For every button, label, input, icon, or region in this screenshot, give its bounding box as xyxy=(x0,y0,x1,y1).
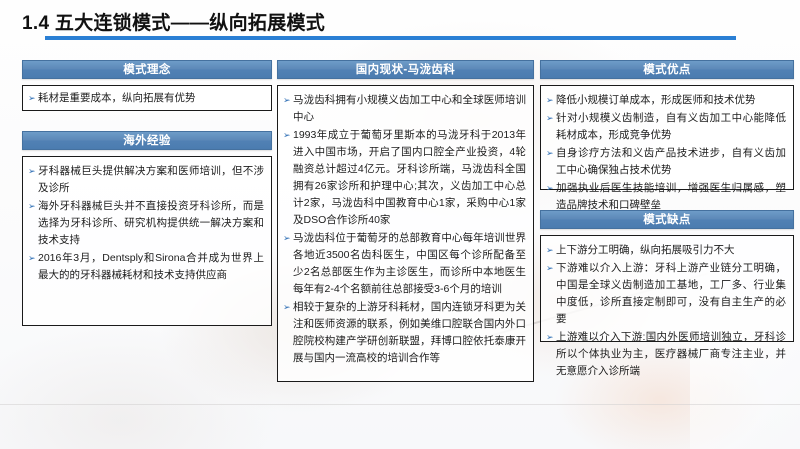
slide: 1.4 五大连锁模式——纵向拓展模式 模式理念 ➢ 耗材是重要成本，纵向拓展有优… xyxy=(0,0,800,449)
bullet-arrow-icon: ➢ xyxy=(546,329,556,346)
list-item-text: 2016年3月，Dentsply和Sirona合并成为世界上最大的的牙科器械耗材… xyxy=(38,250,264,284)
panel-header-concept: 模式理念 xyxy=(22,60,272,79)
list-item: ➢ 上游难以介入下游:国内外医师培训独立，牙科诊所以个体执业为主，医疗器械厂商专… xyxy=(546,329,786,380)
list-item: ➢ 马泷齿科拥有小规模义齿加工中心和全球医师培训中心 xyxy=(283,92,526,126)
list-item: ➢ 加强执业后医生技能培训，增强医生归属感，塑造品牌技术和口碑壁垒 xyxy=(546,180,786,214)
list-item-text: 马泷齿科位于葡萄牙的总部教育中心每年培训世界各地近3500名齿科医生，中国区每个… xyxy=(293,230,526,298)
list-item-text: 针对小规模义齿制造，自有义齿加工中心能降低耗材成本，形成竞争优势 xyxy=(556,110,786,144)
list-item-text: 海外牙科器械巨头并不直接投资牙科诊所，而是选择为牙科诊所、研究机构提供统一解决方… xyxy=(38,198,264,249)
list-item: ➢ 2016年3月，Dentsply和Sirona合并成为世界上最大的的牙科器械… xyxy=(28,250,264,284)
panel-header-pros: 模式优点 xyxy=(540,60,794,79)
list-item-text: 耗材是重要成本，纵向拓展有优势 xyxy=(38,90,264,107)
column-left-spacer xyxy=(22,111,272,131)
list-item: ➢ 自身诊疗方法和义齿产品技术进步，自有义齿加工中心确保独占技术优势 xyxy=(546,145,786,179)
list-item-text: 相较于复杂的上游牙科耗材，国内连锁牙科更为关注和医师资源的联系，例如美维口腔联合… xyxy=(293,299,526,367)
title-underline xyxy=(45,36,736,40)
bullet-arrow-icon: ➢ xyxy=(28,198,38,215)
panel-body-domestic: ➢ 马泷齿科拥有小规模义齿加工中心和全球医师培训中心 ➢ 1993年成立于葡萄牙… xyxy=(277,85,534,382)
list-item: ➢ 牙科器械巨头提供解决方案和医师培训，但不涉及诊所 xyxy=(28,163,264,197)
bullet-arrow-icon: ➢ xyxy=(546,110,556,127)
list-item-text: 降低小规模订单成本，形成医师和技术优势 xyxy=(556,92,786,109)
panel-header-domestic: 国内现状-马泷齿科 xyxy=(277,60,534,79)
panel-body-concept: ➢ 耗材是重要成本，纵向拓展有优势 xyxy=(22,85,272,111)
panel-header-overseas: 海外经验 xyxy=(22,131,272,150)
list-item: ➢ 降低小规模订单成本，形成医师和技术优势 xyxy=(546,92,786,109)
bullet-arrow-icon: ➢ xyxy=(546,92,556,109)
column-middle: 国内现状-马泷齿科 ➢ 马泷齿科拥有小规模义齿加工中心和全球医师培训中心 ➢ 1… xyxy=(277,60,534,382)
list-item: ➢ 耗材是重要成本，纵向拓展有优势 xyxy=(28,90,264,107)
bullet-arrow-icon: ➢ xyxy=(283,92,293,109)
column-right: 模式优点 ➢ 降低小规模订单成本，形成医师和技术优势 ➢ 针对小规模义齿制造，自… xyxy=(540,60,794,342)
list-item: ➢ 相较于复杂的上游牙科耗材，国内连锁牙科更为关注和医师资源的联系，例如美维口腔… xyxy=(283,299,526,367)
list-item: ➢ 下游难以介入上游：牙科上游产业链分工明确，中国是全球义齿制造加工基地，工厂多… xyxy=(546,260,786,328)
background-divider-line xyxy=(0,404,800,405)
list-item: ➢ 海外牙科器械巨头并不直接投资牙科诊所，而是选择为牙科诊所、研究机构提供统一解… xyxy=(28,198,264,249)
bullet-arrow-icon: ➢ xyxy=(546,180,556,197)
list-item-text: 马泷齿科拥有小规模义齿加工中心和全球医师培训中心 xyxy=(293,92,526,126)
list-item: ➢ 马泷齿科位于葡萄牙的总部教育中心每年培训世界各地近3500名齿科医生，中国区… xyxy=(283,230,526,298)
list-item-text: 自身诊疗方法和义齿产品技术进步，自有义齿加工中心确保独占技术优势 xyxy=(556,145,786,179)
page-title: 1.4 五大连锁模式——纵向拓展模式 xyxy=(22,8,325,35)
bullet-arrow-icon: ➢ xyxy=(546,145,556,162)
list-item-text: 下游难以介入上游：牙科上游产业链分工明确，中国是全球义齿制造加工基地，工厂多、行… xyxy=(556,260,786,328)
list-item-text: 1993年成立于葡萄牙里斯本的马泷牙科于2013年进入中国市场，开启了国内口腔全… xyxy=(293,127,526,229)
panel-body-cons: ➢ 上下游分工明确，纵向拓展吸引力不大 ➢ 下游难以介入上游：牙科上游产业链分工… xyxy=(540,235,794,342)
bullet-arrow-icon: ➢ xyxy=(28,163,38,180)
bullet-arrow-icon: ➢ xyxy=(28,250,38,267)
bullet-arrow-icon: ➢ xyxy=(28,90,38,107)
bullet-arrow-icon: ➢ xyxy=(283,127,293,144)
list-item-text: 加强执业后医生技能培训，增强医生归属感，塑造品牌技术和口碑壁垒 xyxy=(556,180,786,214)
column-left: 模式理念 ➢ 耗材是重要成本，纵向拓展有优势 海外经验 ➢ 牙科器械巨头提供解决… xyxy=(22,60,272,326)
bullet-arrow-icon: ➢ xyxy=(283,230,293,247)
list-item: ➢ 1993年成立于葡萄牙里斯本的马泷牙科于2013年进入中国市场，开启了国内口… xyxy=(283,127,526,229)
list-item: ➢ 针对小规模义齿制造，自有义齿加工中心能降低耗材成本，形成竞争优势 xyxy=(546,110,786,144)
list-item: ➢ 上下游分工明确，纵向拓展吸引力不大 xyxy=(546,242,786,259)
panel-body-overseas: ➢ 牙科器械巨头提供解决方案和医师培训，但不涉及诊所 ➢ 海外牙科器械巨头并不直… xyxy=(22,156,272,326)
list-item-text: 牙科器械巨头提供解决方案和医师培训，但不涉及诊所 xyxy=(38,163,264,197)
list-item-text: 上下游分工明确，纵向拓展吸引力不大 xyxy=(556,242,786,259)
bullet-arrow-icon: ➢ xyxy=(546,260,556,277)
bullet-arrow-icon: ➢ xyxy=(546,242,556,259)
bullet-arrow-icon: ➢ xyxy=(283,299,293,316)
panel-body-pros: ➢ 降低小规模订单成本，形成医师和技术优势 ➢ 针对小规模义齿制造，自有义齿加工… xyxy=(540,85,794,190)
list-item-text: 上游难以介入下游:国内外医师培训独立，牙科诊所以个体执业为主，医疗器械厂商专注主… xyxy=(556,329,786,380)
